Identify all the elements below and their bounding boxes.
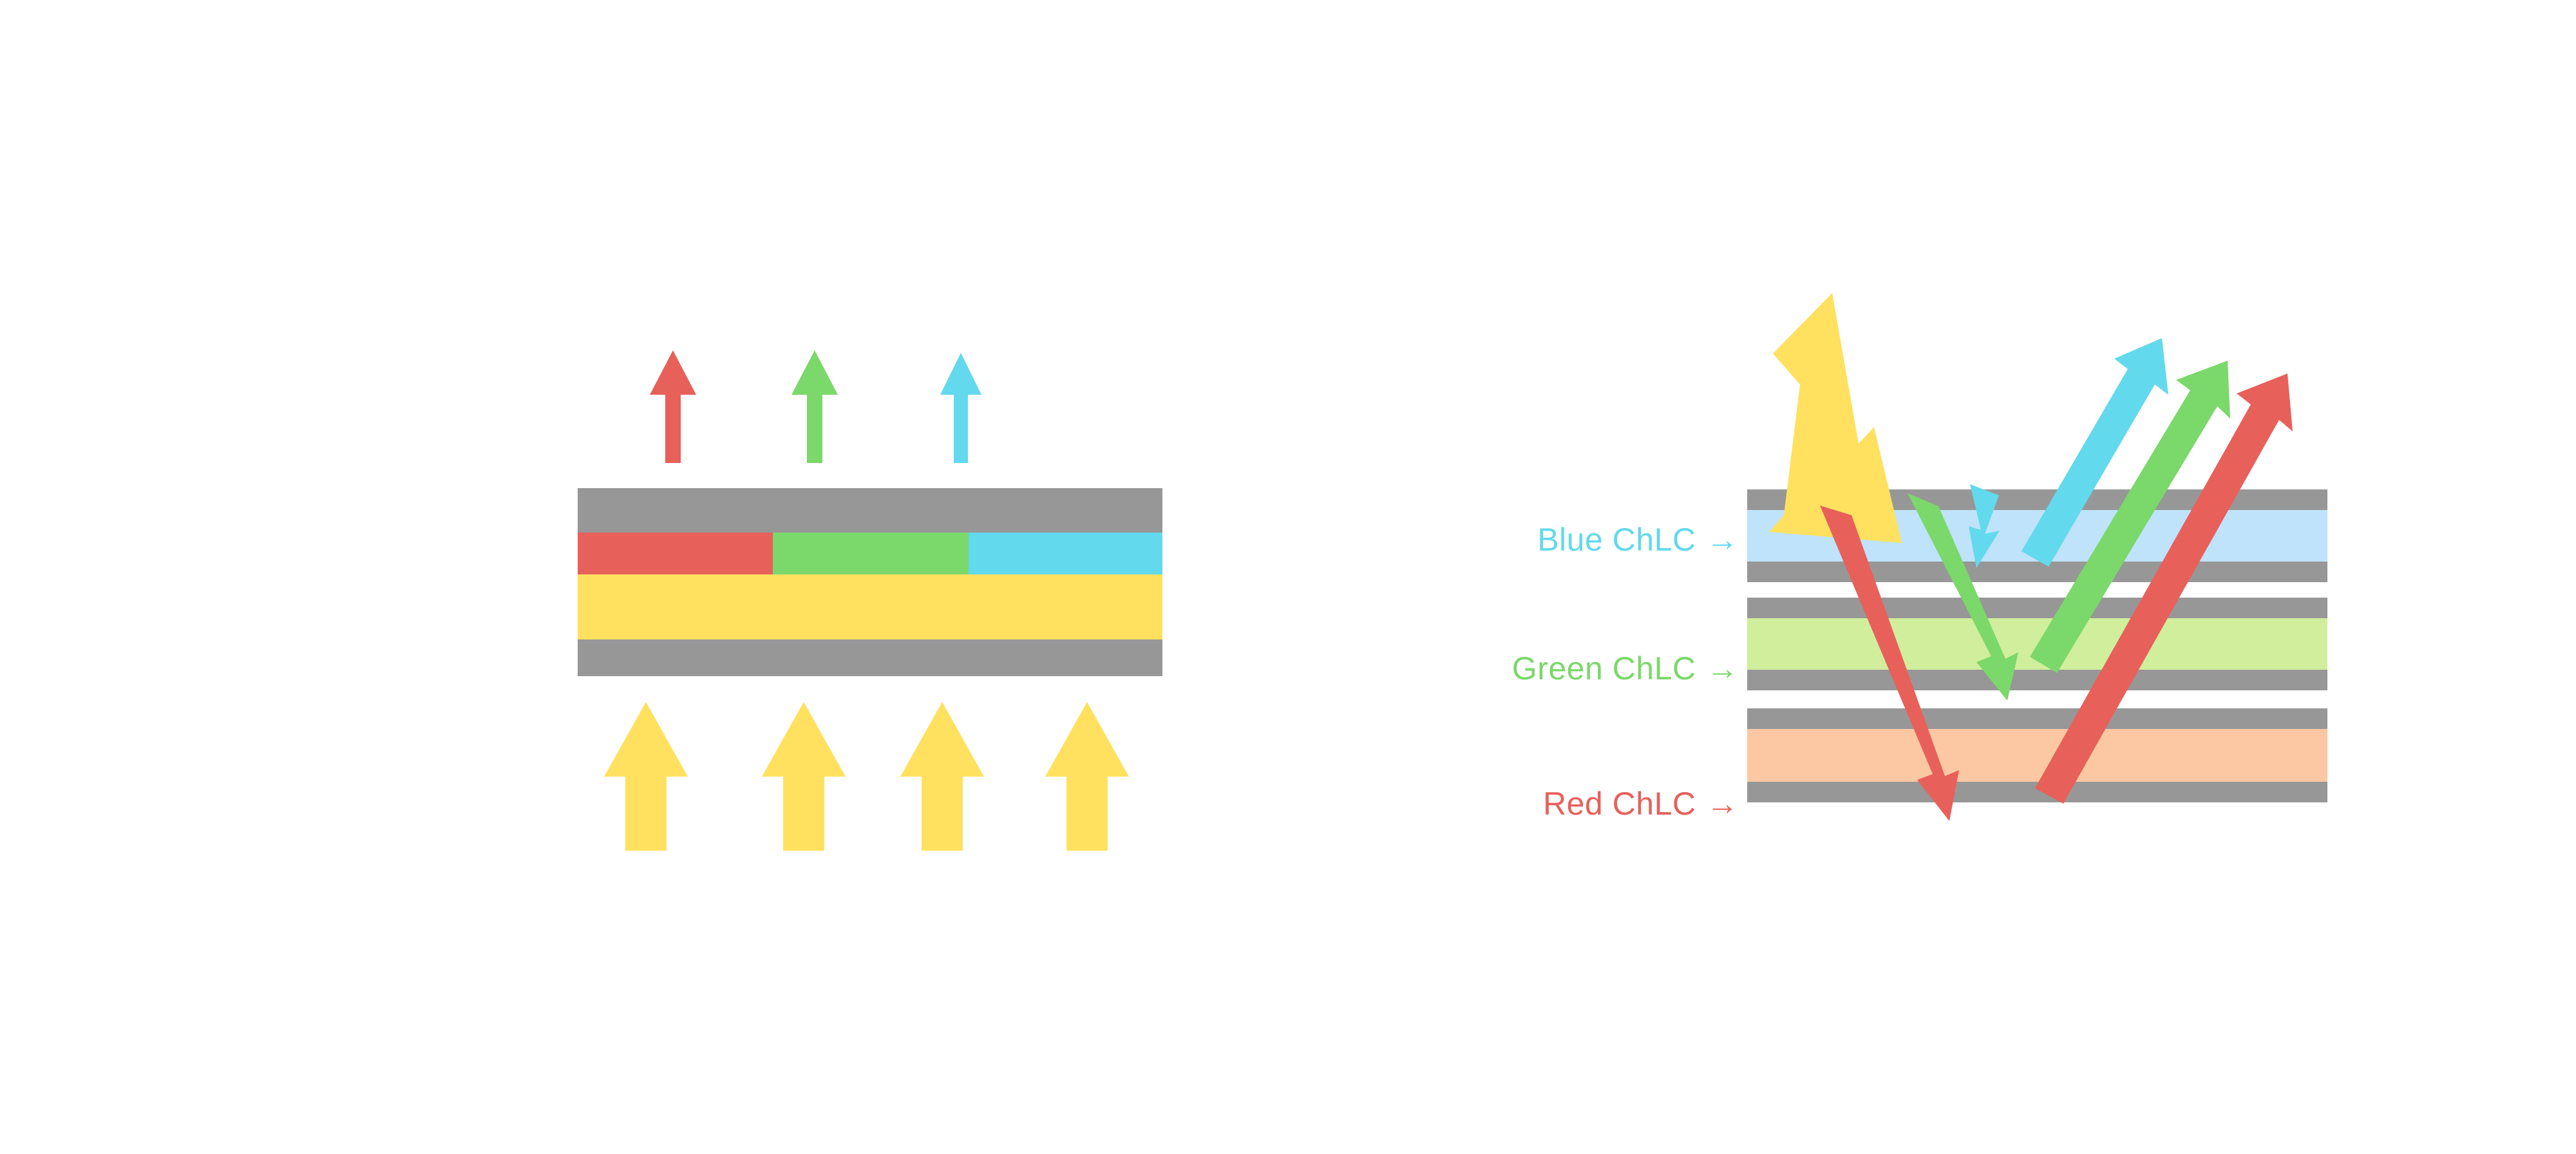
backlight-guide-yellow-layer [578, 574, 1162, 639]
green-chlc-cell [1747, 598, 2327, 690]
backlight-arrow-4 [1045, 702, 1129, 851]
backlight-arrow-1 [604, 702, 688, 851]
red-filter-segment [578, 533, 773, 574]
red-emitted-arrow [650, 350, 696, 463]
red-chlc-label-text: Red ChLC [1543, 786, 1696, 822]
green-chlc-label-text: Green ChLC [1512, 650, 1696, 686]
transmissive-color-filter-stack [578, 488, 1162, 676]
color-filter-band [578, 533, 1162, 574]
emitted-arrow-group [650, 350, 981, 463]
red-chlc-cell [1747, 708, 2327, 802]
green-chlc-label: Green ChLC→ [1288, 650, 1739, 687]
stacked-chlc-reflective-display [1747, 489, 2327, 802]
top-electrode-gray-layer [578, 488, 1162, 533]
blue-chlc-label-text: Blue ChLC [1537, 522, 1696, 558]
green-chlc-label-arrow-icon: → [1707, 652, 1739, 685]
blue-chlc-label-arrow-icon: → [1707, 524, 1739, 556]
green-filter-segment [773, 533, 968, 574]
diagram-canvas: Blue ChLC→ Green ChLC→ Red ChLC→ [0, 0, 2576, 1154]
backlight-arrow-2 [762, 702, 846, 851]
blue-emitted-arrow [940, 353, 981, 463]
red-chlc-core-layer [1747, 729, 2327, 782]
blue-filter-segment [969, 533, 1162, 574]
blue-cell-bottom-electrode [1747, 562, 2327, 582]
backlight-arrow-3 [900, 702, 984, 851]
red-chlc-label-arrow-icon: → [1707, 788, 1739, 820]
blue-chlc-cell [1747, 489, 2327, 582]
blue-chlc-core-layer [1747, 510, 2327, 562]
backlight-arrow-group [604, 702, 1129, 851]
blue-chlc-label: Blue ChLC→ [1288, 521, 1739, 558]
red-chlc-label: Red ChLC→ [1288, 785, 1739, 822]
green-cell-bottom-electrode [1747, 670, 2327, 690]
green-cell-top-electrode [1747, 598, 2327, 618]
bottom-electrode-gray-layer [578, 639, 1162, 676]
red-cell-bottom-electrode [1747, 782, 2327, 802]
red-cell-top-electrode [1747, 708, 2327, 729]
green-emitted-arrow [791, 350, 838, 463]
blue-cell-top-electrode [1747, 489, 2327, 510]
green-chlc-core-layer [1747, 618, 2327, 670]
